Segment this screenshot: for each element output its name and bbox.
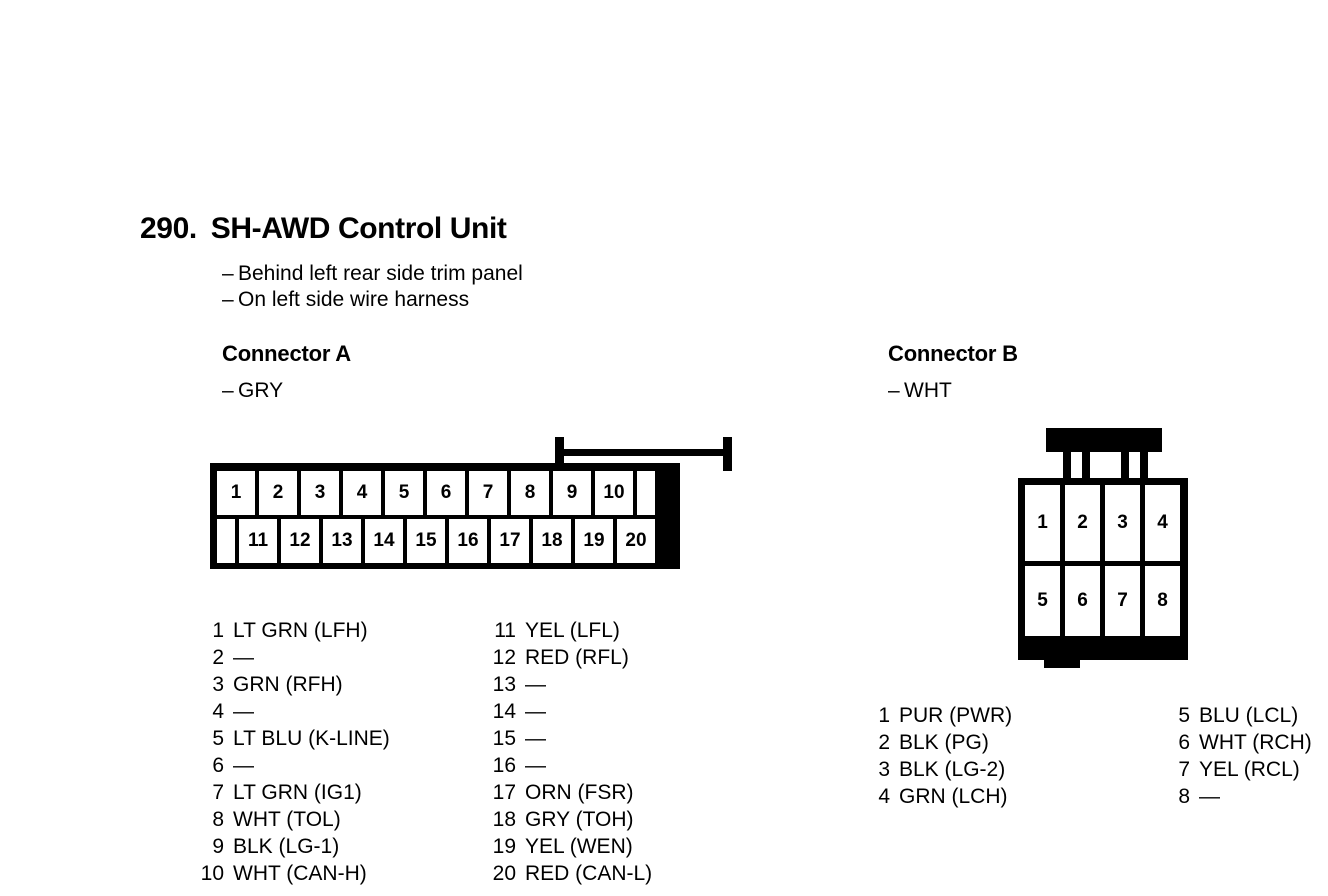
connector-b-diagram: 12345678	[1018, 428, 1188, 662]
pin-row: 3BLK (LG-2)	[864, 756, 1012, 783]
pin-number: 4	[864, 783, 890, 810]
connector-b-pin-list-left: 1PUR (PWR)2BLK (PG)3BLK (LG-2)4GRN (LCH)	[864, 702, 1012, 810]
pin-label: YEL (RCL)	[1199, 756, 1300, 783]
pin-number: 2	[198, 644, 224, 671]
pin-cell-number: 19	[575, 519, 613, 563]
connector-b-color: WHT	[904, 379, 952, 403]
pin-label: —	[525, 698, 546, 725]
pin-label: —	[525, 752, 546, 779]
connector-a-color: GRY	[238, 379, 283, 403]
pin-label: —	[525, 671, 546, 698]
pin-number: 7	[1164, 756, 1190, 783]
pin-row: 13—	[490, 671, 652, 698]
pin-row: 16—	[490, 752, 652, 779]
pin-cell-number: 7	[1105, 566, 1140, 636]
pin-label: —	[1199, 783, 1220, 810]
connector-a-name: Connector A	[222, 341, 351, 367]
pin-cell-number: 6	[1065, 566, 1100, 636]
pin-label: WHT (CAN-H)	[233, 860, 367, 887]
connector-a-pin-list-left: 1LT GRN (LFH)2—3GRN (RFH)4—5LT BLU (K-LI…	[198, 617, 390, 887]
pin-cell-number: 7	[469, 471, 507, 515]
pin-label: RED (RFL)	[525, 644, 629, 671]
pin-number: 2	[864, 729, 890, 756]
pin-row: 18GRY (TOH)	[490, 806, 652, 833]
connector-a-pin-list-right: 11YEL (LFL)12RED (RFL)13—14—15—16—17ORN …	[490, 617, 652, 887]
pin-number: 17	[490, 779, 516, 806]
pin-label: BLK (LG-1)	[233, 833, 339, 860]
pin-row: 17ORN (FSR)	[490, 779, 652, 806]
pin-number: 8	[1164, 783, 1190, 810]
pin-label: LT GRN (IG1)	[233, 779, 362, 806]
pin-label: —	[233, 644, 254, 671]
pin-number: 19	[490, 833, 516, 860]
pin-cell-number: 3	[301, 471, 339, 515]
pin-row: 12RED (RFL)	[490, 644, 652, 671]
pin-cell-number: 5	[385, 471, 423, 515]
pin-label: GRN (RFH)	[233, 671, 343, 698]
pin-row: 10WHT (CAN-H)	[198, 860, 390, 887]
pin-number: 3	[198, 671, 224, 698]
pin-row: 9BLK (LG-1)	[198, 833, 390, 860]
pin-label: BLK (PG)	[899, 729, 989, 756]
pin-cell-number: 16	[449, 519, 487, 563]
connector-b-header: Connector B – WHT	[888, 341, 1018, 403]
pin-label: BLU (LCL)	[1199, 702, 1298, 729]
pin-row: 4GRN (LCH)	[864, 783, 1012, 810]
pin-label: YEL (LFL)	[525, 617, 620, 644]
pin-label: —	[525, 725, 546, 752]
connector-b-color-row: – WHT	[888, 379, 1018, 403]
pin-label: YEL (WEN)	[525, 833, 633, 860]
connector-a-header: Connector A – GRY	[222, 341, 351, 403]
pin-number: 4	[198, 698, 224, 725]
dash-marker: –	[222, 379, 238, 403]
pin-cell-number: 2	[259, 471, 297, 515]
pin-label: LT BLU (K-LINE)	[233, 725, 390, 752]
pin-label: RED (CAN-L)	[525, 860, 652, 887]
pin-label: GRY (TOH)	[525, 806, 634, 833]
pin-label: WHT (TOL)	[233, 806, 341, 833]
pin-row: 19YEL (WEN)	[490, 833, 652, 860]
connector-a-diagram: 1234567891011121314151617181920	[210, 437, 680, 569]
connector-b-latch-leg	[1063, 452, 1071, 482]
pin-row: 3GRN (RFH)	[198, 671, 390, 698]
pin-row: 8—	[1164, 783, 1312, 810]
pin-row: 4—	[198, 698, 390, 725]
pin-number: 11	[490, 617, 516, 644]
pin-label: —	[233, 752, 254, 779]
pin-label: ORN (FSR)	[525, 779, 634, 806]
location-notes: – Behind left rear side trim panel – On …	[222, 261, 523, 313]
connector-b-latch-slot	[1110, 436, 1140, 444]
pin-row: 6—	[198, 752, 390, 779]
location-note-text: On left side wire harness	[238, 287, 469, 313]
pin-number: 12	[490, 644, 516, 671]
pin-cell-number: 10	[595, 471, 633, 515]
pin-label: BLK (LG-2)	[899, 756, 1005, 783]
pin-number: 5	[1164, 702, 1190, 729]
pin-row: 5LT BLU (K-LINE)	[198, 725, 390, 752]
pin-number: 13	[490, 671, 516, 698]
pin-number: 16	[490, 752, 516, 779]
pin-label: WHT (RCH)	[1199, 729, 1312, 756]
pin-label: PUR (PWR)	[899, 702, 1012, 729]
pin-number: 1	[864, 702, 890, 729]
section-number: 290.	[140, 212, 197, 246]
dash-marker: –	[222, 287, 238, 313]
dash-marker: –	[222, 261, 238, 287]
pin-cell-number: 1	[217, 471, 255, 515]
pin-cell-number: 3	[1105, 485, 1140, 561]
pin-number: 20	[490, 860, 516, 887]
connector-a-empty-slot	[217, 519, 235, 563]
pin-cell-number: 12	[281, 519, 319, 563]
pin-number: 6	[1164, 729, 1190, 756]
pin-row: 7LT GRN (IG1)	[198, 779, 390, 806]
pin-number: 6	[198, 752, 224, 779]
connector-b-latch-leg	[1121, 452, 1129, 482]
connector-a-notch-left	[210, 437, 220, 449]
section-title: SH-AWD Control Unit	[211, 212, 507, 246]
pin-cell-number: 13	[323, 519, 361, 563]
pin-cell-number: 4	[1145, 485, 1180, 561]
pin-row: 11YEL (LFL)	[490, 617, 652, 644]
connector-b-foot-tab	[1044, 634, 1080, 668]
connector-a-handle-bar	[555, 449, 732, 456]
pin-cell-number: 20	[617, 519, 655, 563]
pin-cell-number: 4	[343, 471, 381, 515]
connector-b-latch-slot	[1061, 436, 1091, 444]
connector-b-latch-leg	[1140, 452, 1148, 482]
pin-row: 1PUR (PWR)	[864, 702, 1012, 729]
connector-b-latch-leg	[1082, 452, 1090, 482]
page-title: 290. SH-AWD Control Unit	[140, 212, 506, 246]
connector-a-notch-right	[210, 449, 220, 461]
pin-cell-number: 17	[491, 519, 529, 563]
pin-number: 8	[198, 806, 224, 833]
pin-row: 7YEL (RCL)	[1164, 756, 1312, 783]
pin-number: 18	[490, 806, 516, 833]
pin-row: 20RED (CAN-L)	[490, 860, 652, 887]
pin-row: 6WHT (RCH)	[1164, 729, 1312, 756]
connector-a-empty-slot	[637, 471, 655, 515]
pin-cell-number: 8	[511, 471, 549, 515]
pin-row: 5BLU (LCL)	[1164, 702, 1312, 729]
connector-b-pin-list-right: 5BLU (LCL)6WHT (RCH)7YEL (RCL)8—	[1164, 702, 1312, 810]
pin-label: —	[233, 698, 254, 725]
pin-cell-number: 15	[407, 519, 445, 563]
pin-cell-number: 1	[1025, 485, 1060, 561]
pin-number: 7	[198, 779, 224, 806]
pin-number: 5	[198, 725, 224, 752]
location-note-text: Behind left rear side trim panel	[238, 261, 523, 287]
pin-number: 10	[198, 860, 224, 887]
pin-cell-number: 14	[365, 519, 403, 563]
location-note: – Behind left rear side trim panel	[222, 261, 523, 287]
pin-row: 2—	[198, 644, 390, 671]
pin-cell-number: 8	[1145, 566, 1180, 636]
pin-cell-number: 11	[239, 519, 277, 563]
pin-cell-number: 9	[553, 471, 591, 515]
connector-a-color-row: – GRY	[222, 379, 351, 403]
dash-marker: –	[888, 379, 904, 403]
connector-b-name: Connector B	[888, 341, 1018, 367]
pin-row: 8WHT (TOL)	[198, 806, 390, 833]
pin-row: 1LT GRN (LFH)	[198, 617, 390, 644]
pin-number: 9	[198, 833, 224, 860]
location-note: – On left side wire harness	[222, 287, 523, 313]
pin-number: 14	[490, 698, 516, 725]
pin-label: LT GRN (LFH)	[233, 617, 368, 644]
pin-row: 15—	[490, 725, 652, 752]
pin-cell-number: 6	[427, 471, 465, 515]
pin-label: GRN (LCH)	[899, 783, 1008, 810]
pin-row: 14—	[490, 698, 652, 725]
pin-cell-number: 18	[533, 519, 571, 563]
pin-number: 1	[198, 617, 224, 644]
pin-cell-number: 2	[1065, 485, 1100, 561]
pin-cell-number: 5	[1025, 566, 1060, 636]
pin-number: 3	[864, 756, 890, 783]
pin-row: 2BLK (PG)	[864, 729, 1012, 756]
pin-number: 15	[490, 725, 516, 752]
